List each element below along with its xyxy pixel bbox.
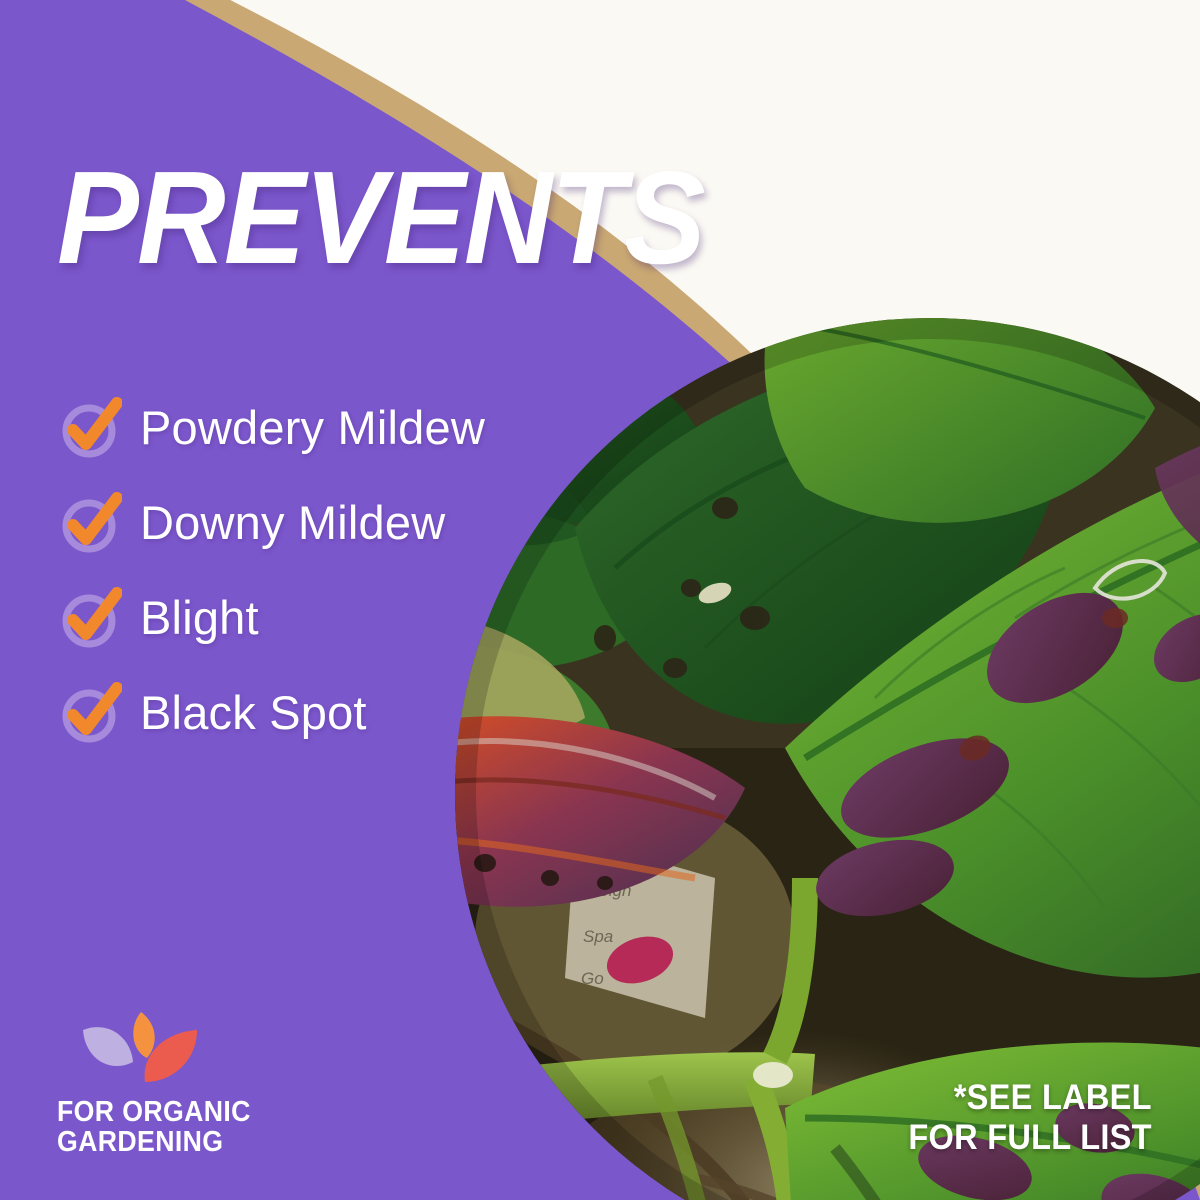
prevents-checklist: Powdery Mildew Downy Mildew Blight — [60, 380, 580, 760]
list-item-label: Downy Mildew — [140, 499, 445, 546]
promo-poster: Heigh Spa Go — [0, 0, 1200, 1200]
svg-text:Go: Go — [581, 969, 604, 988]
list-item-label: Black Spot — [140, 689, 367, 736]
list-item: Black Spot — [60, 665, 580, 760]
check-circle-icon — [60, 492, 122, 554]
three-leaf-logo-icon — [75, 1010, 205, 1090]
list-item: Powdery Mildew — [60, 380, 580, 475]
list-item: Downy Mildew — [60, 475, 580, 570]
list-item-label: Powdery Mildew — [140, 404, 485, 451]
check-circle-icon — [60, 397, 122, 459]
page-title: PREVENTS — [57, 152, 704, 284]
list-item: Blight — [60, 570, 580, 665]
see-label-footnote: *SEE LABEL FOR FULL LIST — [908, 1078, 1152, 1158]
brand-logo: FOR ORGANIC GARDENING — [57, 1010, 317, 1158]
brand-name: FOR ORGANIC GARDENING — [57, 1098, 296, 1158]
check-circle-icon — [60, 682, 122, 744]
check-circle-icon — [60, 587, 122, 649]
list-item-label: Blight — [140, 594, 259, 641]
svg-text:Spa: Spa — [583, 927, 613, 946]
